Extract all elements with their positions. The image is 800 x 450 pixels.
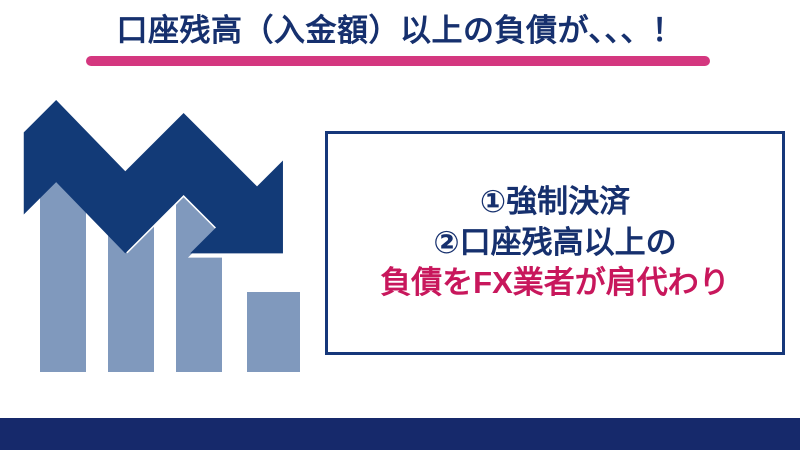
page-title: 口座残高（入金額）以上の負債が、、、！ [0, 12, 800, 49]
callout-line-2: ②口座残高以上の [433, 223, 676, 264]
callout-box: ①強制決済 ②口座残高以上の 負債をFX業者が肩代わり [325, 131, 785, 355]
declining-chart-icon [0, 100, 330, 390]
callout-line-3: 負債をFX業者が肩代わり [380, 263, 730, 304]
footer-band [0, 418, 800, 450]
slide-canvas: 口座残高（入金額）以上の負債が、、、！ ①強制決済 ②口座残高以上の 負債をFX… [0, 0, 800, 450]
chart-bar-4 [247, 292, 300, 372]
title-underline-rule [86, 56, 710, 66]
callout-line-1: ①強制決済 [480, 182, 630, 223]
